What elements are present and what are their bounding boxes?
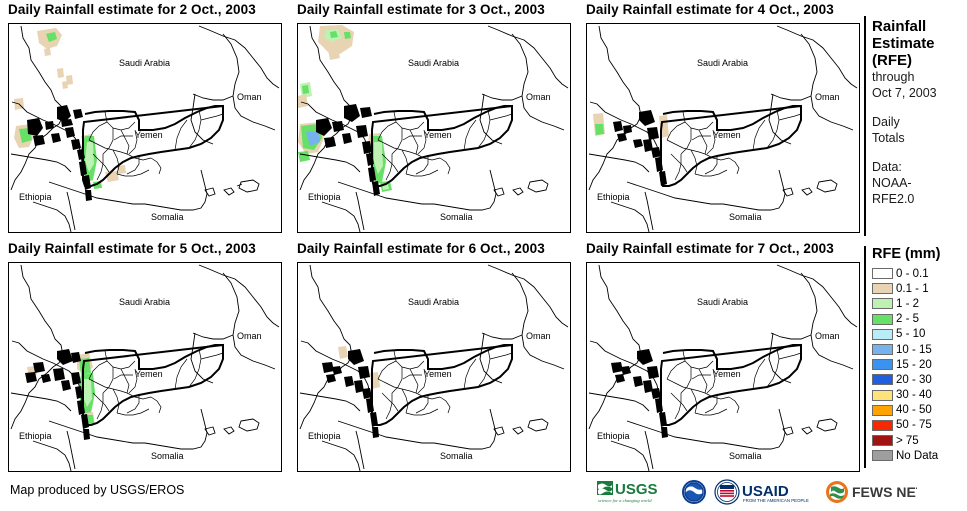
noaa-logo[interactable] <box>681 477 707 507</box>
label-oman: Oman <box>237 92 262 102</box>
legend-label: 50 - 75 <box>896 419 932 431</box>
info-through-date: Oct 7, 2003 <box>872 85 967 101</box>
info-title-line1: Rainfall <box>872 18 967 35</box>
info-divider-rule <box>864 16 866 236</box>
legend-row: 15 - 20 <box>872 357 967 372</box>
info-data-label: Data: <box>872 159 967 175</box>
panel-title: Daily Rainfall estimate for 4 Oct., 2003 <box>586 2 834 17</box>
map-credit: Map produced by USGS/EROS <box>10 483 184 497</box>
label-oman: Oman <box>237 331 262 341</box>
label-somalia: Somalia <box>440 212 473 222</box>
legend-label: 15 - 20 <box>896 359 932 371</box>
legend-swatch <box>872 283 893 294</box>
panel-title: Daily Rainfall estimate for 7 Oct., 2003 <box>586 241 834 256</box>
info-spacer-1 <box>872 101 967 114</box>
legend-row: 5 - 10 <box>872 327 967 342</box>
map-svg: Saudi Arabia Oman Yemen Ethiopia Somalia <box>9 263 281 471</box>
legend-row: 1 - 2 <box>872 296 967 311</box>
usgs-logo-mark: USGS science for a changing world <box>596 479 674 505</box>
label-saudi-arabia: Saudi Arabia <box>697 297 748 307</box>
info-data-source-1: NOAA- <box>872 175 967 191</box>
legend-items: 0 - 0.10.1 - 11 - 22 - 55 - 1010 - 1515 … <box>872 266 967 463</box>
legend-row: 0 - 0.1 <box>872 266 967 281</box>
map-panel-2[interactable]: Daily Rainfall estimate for 3 Oct., 2003 <box>289 0 577 239</box>
yemen-leader-line <box>692 136 711 140</box>
map-panel-4[interactable]: Daily Rainfall estimate for 5 Oct., 2003 <box>0 239 288 478</box>
label-somalia: Somalia <box>729 451 762 461</box>
label-yemen: Yemen <box>424 130 452 140</box>
legend-swatch <box>872 420 893 431</box>
yemen-leader-line <box>114 375 133 379</box>
yemen-leader-line <box>403 375 422 379</box>
label-somalia: Somalia <box>151 451 184 461</box>
legend-row: 0.1 - 1 <box>872 281 967 296</box>
legend-row: 20 - 30 <box>872 372 967 387</box>
legend-label: 1 - 2 <box>896 298 919 310</box>
map-frame[interactable]: Saudi Arabia Oman Yemen Ethiopia Somalia <box>586 262 860 472</box>
dark-rain-cells <box>316 104 380 196</box>
partner-logos: USGS science for a changing world U <box>596 476 917 508</box>
legend-row: 40 - 50 <box>872 403 967 418</box>
label-saudi-arabia: Saudi Arabia <box>408 297 459 307</box>
legend-label: 0.1 - 1 <box>896 283 929 295</box>
legend-label: 2 - 5 <box>896 313 919 325</box>
map-svg: Saudi Arabia Oman Yemen Ethiopia Somalia <box>587 263 859 471</box>
svg-text:USGS: USGS <box>615 481 658 498</box>
usaid-logo-mark: USAID FROM THE AMERICAN PEOPLE <box>714 479 818 505</box>
map-panel-5[interactable]: Daily Rainfall estimate for 6 Oct., 2003 <box>289 239 577 478</box>
dark-rain-cells <box>322 349 379 438</box>
label-ethiopia: Ethiopia <box>308 431 341 441</box>
info-data-source-2: RFE2.0 <box>872 191 967 207</box>
admin-boundaries <box>667 110 801 180</box>
map-frame[interactable]: Saudi Arabia Oman Yemen Ethiopia Somalia <box>8 23 282 233</box>
legend-swatch <box>872 405 893 416</box>
panel-title: Daily Rainfall estimate for 5 Oct., 2003 <box>8 241 256 256</box>
label-ethiopia: Ethiopia <box>597 431 630 441</box>
map-svg: Saudi Arabia Oman Yemen Ethiopia Somalia <box>298 263 570 471</box>
legend-swatch <box>872 329 893 340</box>
legend-row: 30 - 40 <box>872 388 967 403</box>
legend-swatch <box>872 359 893 370</box>
map-panel-1[interactable]: Daily Rainfall estimate for 2 Oct., 2003 <box>0 0 288 239</box>
label-ethiopia: Ethiopia <box>597 192 630 202</box>
legend-title: RFE (mm) <box>872 246 940 262</box>
info-spacer-2 <box>872 146 967 159</box>
legend-label: 20 - 30 <box>896 374 932 386</box>
info-totals-label: Totals <box>872 130 967 146</box>
label-oman: Oman <box>815 331 840 341</box>
legend-label: No Data <box>896 450 938 462</box>
map-svg: Saudi Arabia Oman Yemen Ethiopia Somalia <box>9 24 281 232</box>
fewsnet-logo[interactable]: FEWS NET <box>825 477 917 507</box>
legend-swatch <box>872 435 893 446</box>
map-panel-6[interactable]: Daily Rainfall estimate for 7 Oct., 2003 <box>578 239 866 478</box>
map-panel-grid: Daily Rainfall estimate for 2 Oct., 2003 <box>0 0 868 478</box>
legend-label: 10 - 15 <box>896 344 932 356</box>
legend-swatch <box>872 374 893 385</box>
label-yemen: Yemen <box>424 369 452 379</box>
yemen-leader-line <box>403 136 422 140</box>
legend-row: 10 - 15 <box>872 342 967 357</box>
label-ethiopia: Ethiopia <box>19 431 52 441</box>
label-oman: Oman <box>526 92 551 102</box>
label-oman: Oman <box>815 92 840 102</box>
label-yemen: Yemen <box>135 369 163 379</box>
info-title-line2: Estimate <box>872 35 967 52</box>
legend-swatch <box>872 344 893 355</box>
yemen-leader-line <box>692 375 711 379</box>
fewsnet-logo-mark: FEWS NET <box>825 479 917 505</box>
usgs-logo[interactable]: USGS science for a changing world <box>596 477 674 507</box>
label-yemen: Yemen <box>135 130 163 140</box>
panel-title: Daily Rainfall estimate for 2 Oct., 2003 <box>8 2 256 17</box>
map-frame[interactable]: Saudi Arabia Oman Yemen Ethiopia Somalia <box>297 23 571 233</box>
map-frame[interactable]: Saudi Arabia Oman Yemen Ethiopia Somalia <box>8 262 282 472</box>
label-saudi-arabia: Saudi Arabia <box>408 58 459 68</box>
label-ethiopia: Ethiopia <box>19 192 52 202</box>
map-place-labels: Saudi Arabia Oman Yemen Ethiopia Somalia <box>597 297 840 461</box>
map-place-labels: Saudi Arabia Oman Yemen Ethiopia Somalia <box>308 297 551 461</box>
legend-label: 40 - 50 <box>896 404 932 416</box>
admin-boundaries <box>378 110 512 180</box>
noaa-logo-mark <box>681 479 707 505</box>
legend-swatch <box>872 314 893 325</box>
info-title-line3: (RFE) <box>872 52 967 69</box>
admin-boundaries <box>89 110 223 180</box>
info-daily-label: Daily <box>872 114 967 130</box>
label-oman: Oman <box>526 331 551 341</box>
label-saudi-arabia: Saudi Arabia <box>119 58 170 68</box>
label-somalia: Somalia <box>440 451 473 461</box>
label-yemen: Yemen <box>713 369 741 379</box>
legend-label: 30 - 40 <box>896 389 932 401</box>
legend-label: 0 - 0.1 <box>896 268 929 280</box>
panel-title: Daily Rainfall estimate for 3 Oct., 2003 <box>297 2 545 17</box>
legend-row: 50 - 75 <box>872 418 967 433</box>
admin-boundaries <box>378 349 512 419</box>
label-yemen: Yemen <box>713 130 741 140</box>
legend-row: No Data <box>872 448 967 463</box>
legend-row: > 75 <box>872 433 967 448</box>
dark-rain-cells <box>611 349 668 438</box>
admin-boundaries <box>667 349 801 419</box>
panel-title: Daily Rainfall estimate for 6 Oct., 2003 <box>297 241 545 256</box>
legend-swatch <box>872 450 893 461</box>
map-svg: Saudi Arabia Oman Yemen Ethiopia Somalia <box>298 24 570 232</box>
map-frame[interactable]: Saudi Arabia Oman Yemen Ethiopia Somalia <box>297 262 571 472</box>
legend-label: > 75 <box>896 435 919 447</box>
dark-rain-cells <box>613 110 667 186</box>
legend-row: 2 - 5 <box>872 312 967 327</box>
legend-swatch <box>872 390 893 401</box>
legend-label: 5 - 10 <box>896 328 925 340</box>
map-frame[interactable]: Saudi Arabia Oman Yemen Ethiopia Somalia <box>586 23 860 233</box>
label-ethiopia: Ethiopia <box>308 192 341 202</box>
rfe-map-page: Daily Rainfall estimate for 2 Oct., 2003 <box>0 0 967 511</box>
legend-divider-rule <box>864 246 866 468</box>
admin-boundaries <box>89 349 223 419</box>
svg-text:FROM THE AMERICAN PEOPLE: FROM THE AMERICAN PEOPLE <box>743 498 809 503</box>
rain-cells <box>14 28 126 189</box>
info-text-block: Rainfall Estimate (RFE) through Oct 7, 2… <box>872 18 967 207</box>
label-somalia: Somalia <box>151 212 184 222</box>
label-saudi-arabia: Saudi Arabia <box>119 297 170 307</box>
svg-text:science for a changing world: science for a changing world <box>598 498 652 503</box>
map-svg: Saudi Arabia Oman Yemen Ethiopia Somalia <box>587 24 859 232</box>
legend-swatch <box>872 298 893 309</box>
legend-swatch <box>872 268 893 279</box>
yemen-leader-line <box>114 136 133 140</box>
map-panel-3[interactable]: Daily Rainfall estimate for 4 Oct., 2003 <box>578 0 866 239</box>
svg-text:FEWS NET: FEWS NET <box>852 484 917 500</box>
label-saudi-arabia: Saudi Arabia <box>697 58 748 68</box>
label-somalia: Somalia <box>729 212 762 222</box>
info-through-label: through <box>872 69 967 85</box>
usaid-logo[interactable]: USAID FROM THE AMERICAN PEOPLE <box>714 477 818 507</box>
